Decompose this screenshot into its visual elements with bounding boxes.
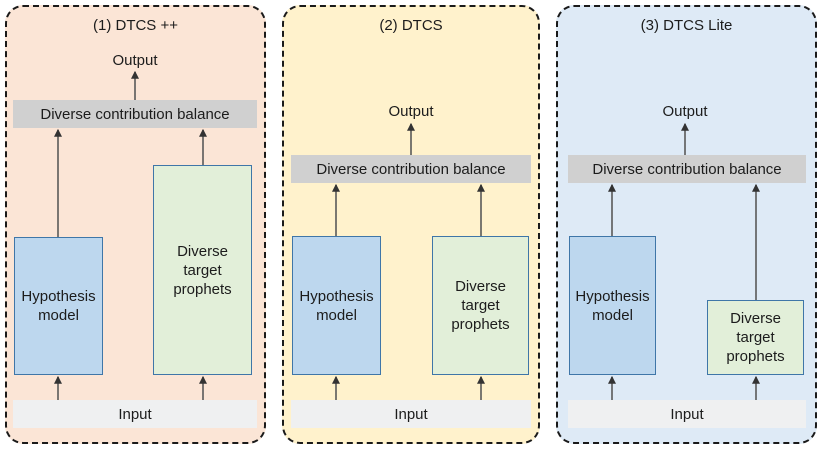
diverse-target-prophets-block-panel-3: Diverse target prophets — [707, 300, 804, 375]
output-label-panel-1: Output — [95, 49, 175, 71]
diverse-target-prophets-block-panel-2: Diverse target prophets — [432, 236, 529, 375]
hypothesis-model-block-panel-3: Hypothesis model — [569, 236, 656, 375]
hypothesis-model-block-panel-1: Hypothesis model — [14, 237, 103, 375]
diverse-contribution-balance-bar-panel-1: Diverse contribution balance — [13, 100, 257, 128]
panel-title: (3) DTCS Lite — [558, 16, 815, 36]
input-bar-panel-1: Input — [13, 400, 257, 428]
panel-title: (2) DTCS — [284, 16, 538, 36]
diverse-target-prophets-label: Diverse target prophets — [726, 309, 784, 366]
panel-title: (1) DTCS ++ — [7, 16, 264, 36]
output-label-panel-3: Output — [645, 100, 725, 122]
hypothesis-model-label: Hypothesis model — [575, 287, 649, 325]
diverse-contribution-balance-bar-panel-2: Diverse contribution balance — [291, 155, 531, 183]
hypothesis-model-label: Hypothesis model — [21, 287, 95, 325]
panel-dtcs-lite: (3) DTCS Lite — [556, 5, 817, 444]
figure-root: (1) DTCS ++ Output Diverse contribution … — [0, 0, 822, 449]
input-bar-panel-2: Input — [291, 400, 531, 428]
diverse-contribution-balance-bar-panel-3: Diverse contribution balance — [568, 155, 806, 183]
diverse-target-prophets-label: Diverse target prophets — [173, 242, 231, 299]
diverse-target-prophets-block-panel-1: Diverse target prophets — [153, 165, 252, 375]
hypothesis-model-label: Hypothesis model — [299, 287, 373, 325]
input-bar-panel-3: Input — [568, 400, 806, 428]
diverse-target-prophets-label: Diverse target prophets — [451, 277, 509, 334]
output-label-panel-2: Output — [371, 100, 451, 122]
panel-dtcs: (2) DTCS — [282, 5, 540, 444]
hypothesis-model-block-panel-2: Hypothesis model — [292, 236, 381, 375]
